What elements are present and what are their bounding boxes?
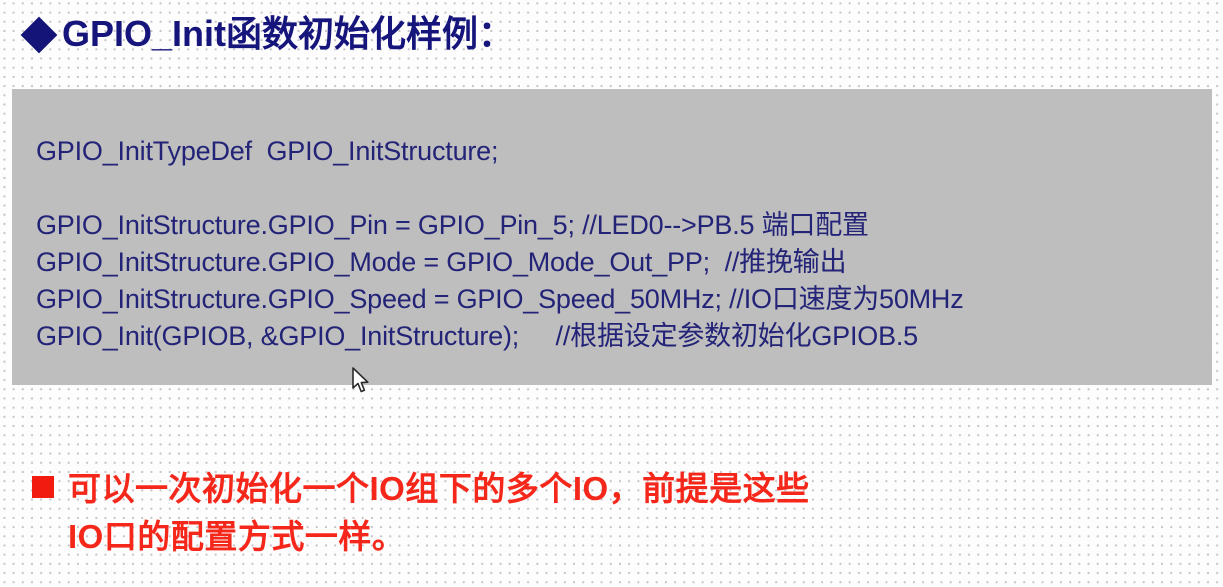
slide-canvas: GPIO_Init函数初始化样例： GPIO_InitTypeDef GPIO_… (0, 0, 1223, 587)
square-bullet-icon (32, 476, 54, 498)
code-line: GPIO_InitStructure.GPIO_Mode = GPIO_Mode… (36, 244, 1208, 281)
code-line: GPIO_InitTypeDef GPIO_InitStructure; (36, 133, 1208, 170)
note-line-2: IO口的配置方式一样。 (68, 514, 1182, 560)
code-block: GPIO_InitTypeDef GPIO_InitStructure; GPI… (12, 89, 1212, 385)
note-line-1: 可以一次初始化一个IO组下的多个IO，前提是这些 (68, 466, 810, 512)
note-block: 可以一次初始化一个IO组下的多个IO，前提是这些 IO口的配置方式一样。 (32, 466, 1182, 560)
code-line: GPIO_InitStructure.GPIO_Pin = GPIO_Pin_5… (36, 207, 1208, 244)
page-title-text: GPIO_Init函数初始化样例： (62, 16, 514, 52)
page-title: GPIO_Init函数初始化样例： (26, 16, 514, 52)
code-line: GPIO_Init(GPIOB, &GPIO_InitStructure); /… (36, 318, 1208, 355)
code-line: GPIO_InitStructure.GPIO_Speed = GPIO_Spe… (36, 281, 1208, 318)
diamond-bullet-icon (21, 17, 58, 54)
note-first-row: 可以一次初始化一个IO组下的多个IO，前提是这些 (32, 466, 1182, 512)
code-block-lines: GPIO_InitTypeDef GPIO_InitStructure; GPI… (36, 133, 1208, 355)
code-line-blank (36, 170, 1208, 207)
